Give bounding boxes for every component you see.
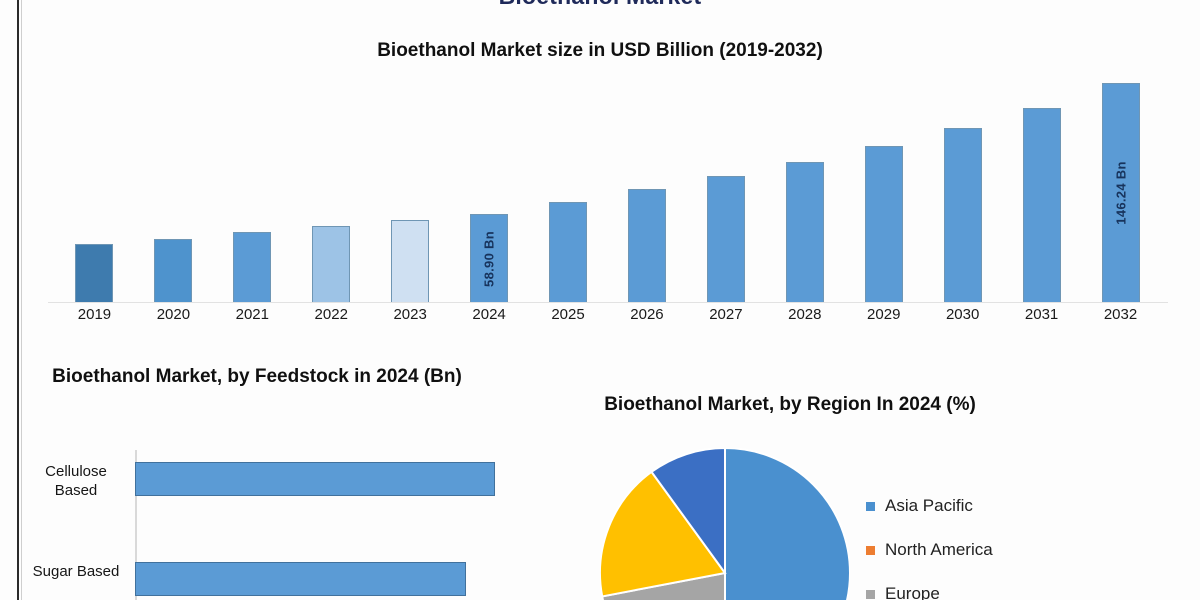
bar-2028	[786, 162, 824, 302]
x-axis-label-2019: 2019	[55, 306, 134, 323]
feedstock-bar-cellulose-based: Cellulose Based	[135, 462, 495, 496]
bar-value-label-2032: 146.24 Bn	[1113, 161, 1128, 224]
left-edge-rule-secondary	[21, 0, 22, 600]
bar-column-2021	[233, 62, 271, 302]
bar-column-2026	[628, 62, 666, 302]
bar-column-2030	[944, 62, 982, 302]
bar-2027	[707, 176, 745, 302]
bar-column-2020	[154, 62, 192, 302]
poster-master-title: Bioethanol Market	[0, 0, 1200, 10]
feedstock-category-label-sugar-based: Sugar Based	[28, 563, 124, 582]
bar-column-2023	[391, 62, 429, 302]
bar-column-2029	[865, 62, 903, 302]
bar-2020	[154, 239, 192, 302]
bar-2023	[391, 220, 429, 302]
bar-2030	[944, 128, 982, 302]
bar-column-2028	[786, 62, 824, 302]
region-pie-legend: Asia PacificNorth AmericaEurope	[866, 484, 1166, 600]
region-chart-title: Bioethanol Market, by Region In 2024 (%)	[560, 392, 1020, 418]
legend-item-europe: Europe	[866, 572, 1166, 600]
x-axis-label-2022: 2022	[292, 306, 371, 323]
bar-column-2019	[75, 62, 113, 302]
left-edge-rule	[17, 0, 19, 600]
bar-2025	[549, 202, 587, 302]
legend-swatch-icon	[866, 502, 875, 511]
x-axis-label-2032: 2032	[1081, 306, 1160, 323]
bar-2022	[312, 226, 350, 302]
x-axis-label-2020: 2020	[134, 306, 213, 323]
x-axis-label-2027: 2027	[686, 306, 765, 323]
bar-chart-x-axis-labels: 2019202020212022202320242025202620272028…	[55, 306, 1160, 332]
bar-chart-title: Bioethanol Market size in USD Billion (2…	[0, 40, 1200, 62]
bar-column-2025	[549, 62, 587, 302]
feedstock-chart-title: Bioethanol Market, by Feedstock in 2024 …	[22, 364, 492, 390]
infographic-poster: Bioethanol Market Bioethanol Market size…	[0, 0, 1200, 600]
pie-slice-asia-pacific	[725, 448, 850, 600]
legend-label: Europe	[885, 584, 940, 600]
x-axis-label-2024: 2024	[450, 306, 529, 323]
legend-swatch-icon	[866, 546, 875, 555]
feedstock-category-label-cellulose-based: Cellulose Based	[28, 463, 124, 501]
region-pie-svg	[600, 448, 850, 600]
x-axis-label-2031: 2031	[1002, 306, 1081, 323]
legend-label: North America	[885, 540, 993, 560]
x-axis-label-2030: 2030	[923, 306, 1002, 323]
x-axis-label-2029: 2029	[844, 306, 923, 323]
region-pie-chart	[600, 448, 850, 600]
legend-item-north-america: North America	[866, 528, 1166, 572]
bar-2021	[233, 232, 271, 302]
bar-chart-plot-area: 58.90 Bn146.24 Bn	[55, 62, 1160, 302]
bar-column-2031	[1023, 62, 1061, 302]
x-axis-label-2025: 2025	[529, 306, 608, 323]
bar-column-2024: 58.90 Bn	[470, 62, 508, 302]
x-axis-label-2026: 2026	[608, 306, 687, 323]
legend-item-asia-pacific: Asia Pacific	[866, 484, 1166, 528]
bar-2032: 146.24 Bn	[1102, 83, 1140, 302]
feedstock-bar-sugar-based: Sugar Based	[135, 562, 466, 596]
bar-column-2032: 146.24 Bn	[1102, 62, 1140, 302]
bar-column-2022	[312, 62, 350, 302]
bar-2029	[865, 146, 903, 302]
bar-2024: 58.90 Bn	[470, 214, 508, 302]
bar-2031	[1023, 108, 1061, 302]
bar-value-label-2024: 58.90 Bn	[482, 231, 497, 287]
legend-label: Asia Pacific	[885, 496, 973, 516]
bar-2019	[75, 244, 113, 302]
x-axis-label-2028: 2028	[765, 306, 844, 323]
legend-swatch-icon	[866, 590, 875, 599]
x-axis-label-2021: 2021	[213, 306, 292, 323]
feedstock-chart-plot-area: Cellulose BasedSugar Based	[135, 452, 495, 600]
x-axis-label-2023: 2023	[371, 306, 450, 323]
bar-chart-baseline	[48, 302, 1168, 303]
bar-2026	[628, 189, 666, 302]
bar-column-2027	[707, 62, 745, 302]
